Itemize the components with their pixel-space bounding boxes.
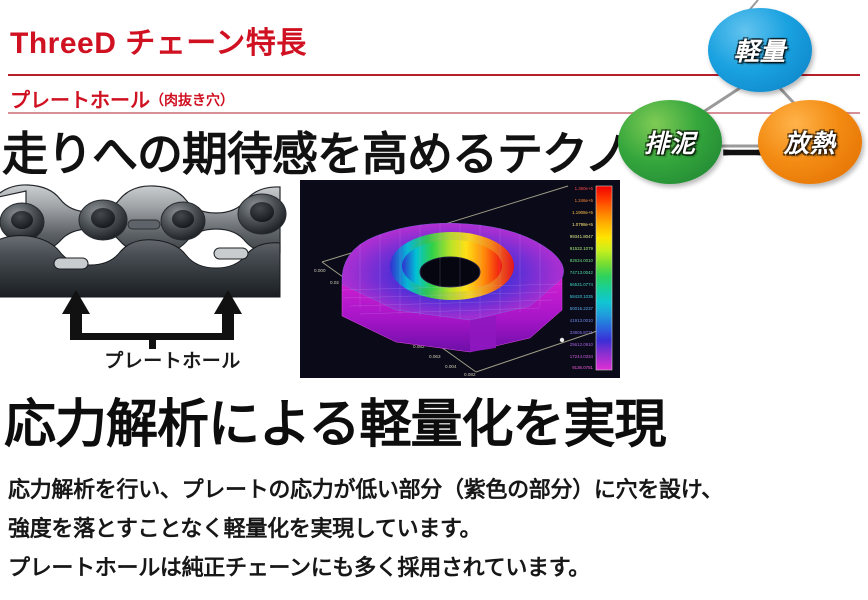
svg-text:0.004: 0.004: [445, 364, 457, 369]
svg-text:41913.0010: 41913.0010: [570, 318, 594, 323]
main-statement: 応力解析による軽量化を実現: [4, 382, 665, 457]
fea-stress-analysis-figure: 0.000 0.02 0.019 0.0 0.01 0.04 0.06 0.08…: [300, 180, 620, 378]
badge-lightweight-label: 軽量: [734, 32, 786, 68]
fea-node-marker: [560, 338, 564, 342]
badge-mud-discharge-label: 排泥: [644, 124, 696, 160]
body-copy: 応力解析を行い、プレートの応力が低い部分（紫色の部分）に穴を設け、 強度を落とす…: [8, 470, 860, 587]
svg-text:0.02: 0.02: [330, 280, 339, 285]
svg-text:1.246e+5: 1.246e+5: [575, 198, 594, 203]
svg-text:91532.1079: 91532.1079: [570, 246, 594, 251]
badge-heat-dissipation-label: 放熱: [784, 124, 836, 160]
svg-text:25612.0910: 25612.0910: [570, 342, 594, 347]
badge-lightweight[interactable]: 軽量: [708, 8, 812, 92]
svg-text:66531.0774: 66531.0774: [570, 282, 594, 287]
svg-text:74713.0042: 74713.0042: [570, 270, 594, 275]
svg-text:17244.0334: 17244.0334: [570, 354, 594, 359]
svg-text:99341.8047: 99341.8047: [570, 234, 594, 239]
page-subtitle-main: プレートホール: [10, 90, 150, 112]
feature-badge-cluster: 軽量 排泥 放熱: [600, 0, 868, 190]
svg-text:1.350e+5: 1.350e+5: [575, 186, 594, 191]
fea-colorbar: [596, 186, 612, 370]
page-subtitle-paren: （肉抜き穴）: [150, 92, 234, 108]
svg-text:0.082: 0.082: [464, 372, 476, 377]
badge-mud-discharge[interactable]: 排泥: [618, 100, 722, 184]
svg-text:50016.2237: 50016.2237: [570, 306, 594, 311]
page-subtitle: プレートホール（肉抜き穴）: [10, 84, 234, 113]
svg-text:1.0798e+5: 1.0798e+5: [572, 222, 593, 227]
svg-text:33806.8771: 33806.8771: [570, 330, 594, 335]
badge-heat-dissipation[interactable]: 放熱: [758, 100, 862, 184]
body-line-1: 応力解析を行い、プレートの応力が低い部分（紫色の部分）に穴を設け、: [8, 470, 860, 509]
svg-text:58420.1035: 58420.1035: [570, 294, 594, 299]
svg-text:82634.0010: 82634.0010: [570, 258, 594, 263]
body-line-2: 強度を落とすことなく軽量化を実現しています。: [8, 509, 860, 548]
body-line-3: プレートホールは純正チェーンにも多く採用されています。: [8, 548, 860, 587]
plate-hole-callout-label: プレートホール: [60, 346, 285, 373]
product-feature-page: ThreeD チェーン特長 プレートホール（肉抜き穴） 走りへの期待感を高めるテ…: [0, 0, 868, 600]
page-kicker: ThreeD チェーン特長: [10, 18, 307, 62]
plate-hole-callout: プレートホール: [60, 288, 295, 383]
svg-text:0.000: 0.000: [314, 268, 326, 273]
svg-text:0.063: 0.063: [429, 354, 441, 359]
svg-text:1.1908e+5: 1.1908e+5: [572, 210, 593, 215]
svg-text:9136.0781: 9136.0781: [572, 365, 593, 370]
